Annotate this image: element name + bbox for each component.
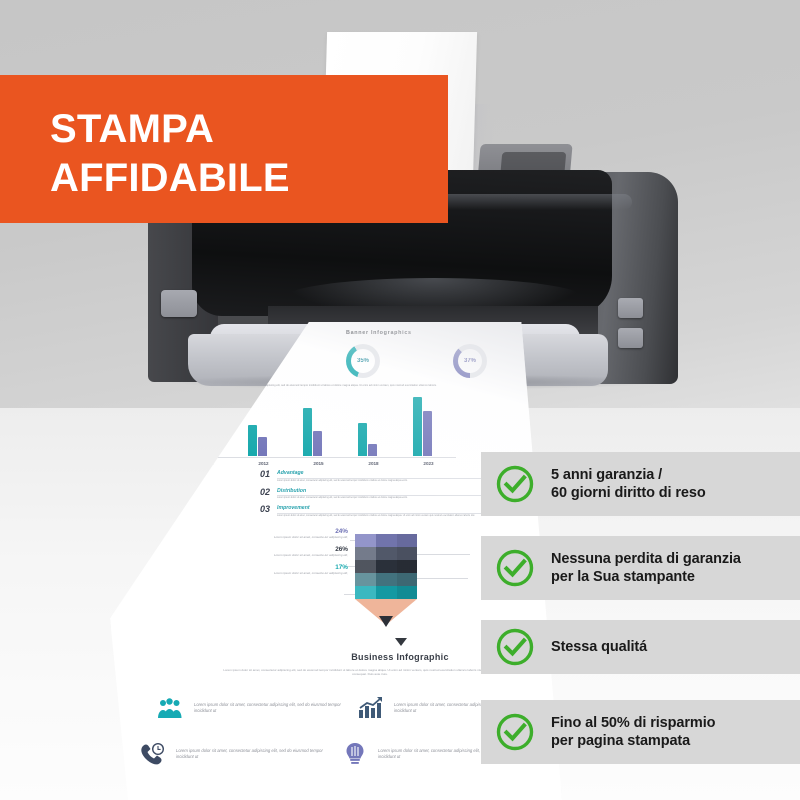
feature-box-4: Fino al 50% di risparmio per pagina stam…	[481, 700, 800, 764]
printer-right-panel-button-2[interactable]	[618, 328, 643, 348]
feature-text-line2: per la Sua stampante	[551, 568, 741, 586]
headline-line2: AFFIDABILE	[50, 154, 290, 203]
feature-text-line1: Fino al 50% di risparmio	[551, 714, 715, 732]
feature-text-line2: per pagina stampata	[551, 732, 715, 750]
headline-text: STAMPA AFFIDABILE	[50, 105, 290, 203]
check-circle-icon	[495, 627, 535, 667]
feature-text-4: Fino al 50% di risparmio per pagina stam…	[551, 714, 715, 750]
feature-box-3: Stessa qualitá	[481, 620, 800, 674]
check-circle-icon	[495, 712, 535, 752]
feature-box-2: Nessuna perdita di garanzia per la Sua s…	[481, 536, 800, 600]
feature-text-1: 5 anni garanzia / 60 giorni diritto di r…	[551, 466, 706, 502]
printer-left-panel-button[interactable]	[161, 290, 197, 317]
feature-box-1: 5 anni garanzia / 60 giorni diritto di r…	[481, 452, 800, 516]
feature-text-2: Nessuna perdita di garanzia per la Sua s…	[551, 550, 741, 586]
feature-text-3: Stessa qualitá	[551, 638, 647, 656]
check-circle-icon	[495, 464, 535, 504]
feature-text-line1: 5 anni garanzia /	[551, 466, 706, 484]
printer-right-panel-button-1[interactable]	[618, 298, 643, 318]
feature-text-line1: Stessa qualitá	[551, 638, 647, 656]
headline-line1: STAMPA	[50, 105, 290, 154]
poster-canvas: Banner Infographics 35% 37% Lorem ipsum …	[0, 0, 800, 800]
feature-text-line2: 60 giorni diritto di reso	[551, 484, 706, 502]
check-circle-icon	[495, 548, 535, 588]
headline-banner: STAMPA AFFIDABILE	[0, 75, 448, 223]
feature-text-line1: Nessuna perdita di garanzia	[551, 550, 741, 568]
